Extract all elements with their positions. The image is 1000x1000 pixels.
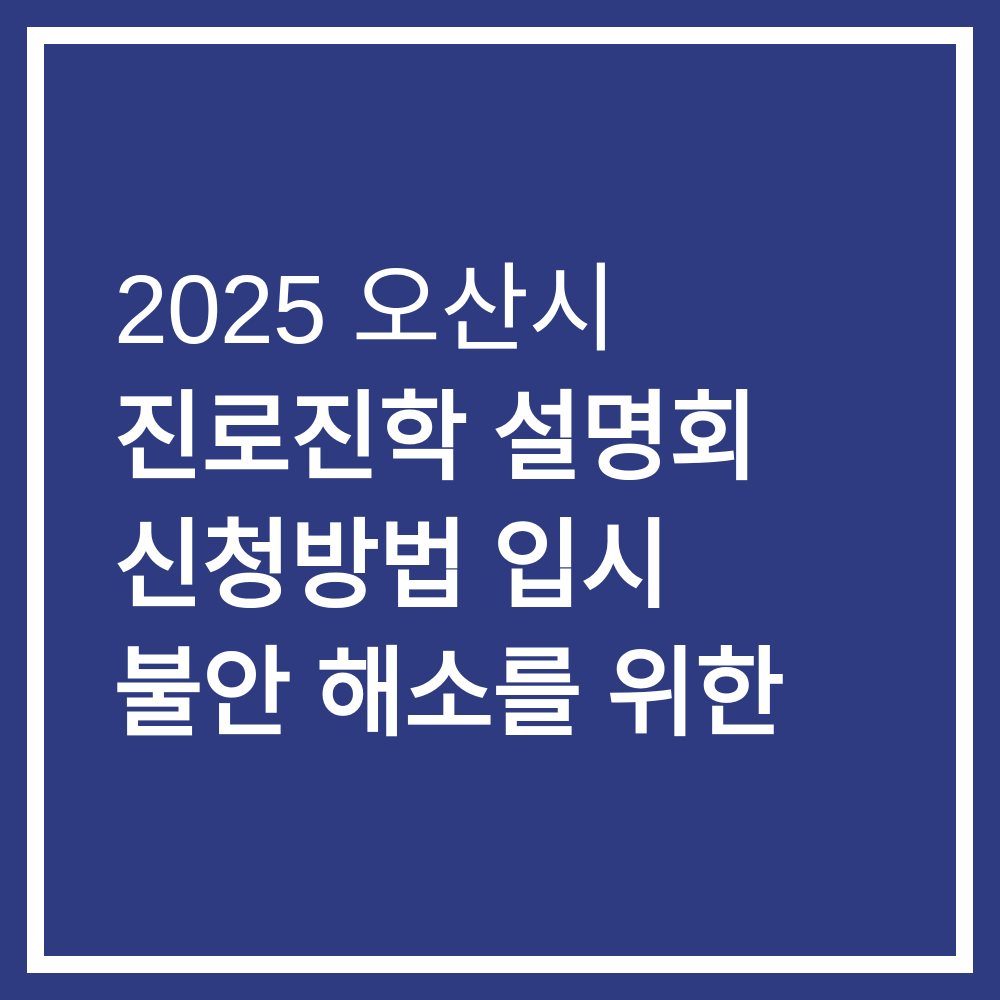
poster-title-block: 2025 오산시 진로진학 설명회 신청방법 입시 불안 해소를 위한	[114, 246, 914, 758]
title-line-3: 신청방법 입시	[114, 502, 914, 630]
title-line-4: 불안 해소를 위한	[114, 630, 914, 758]
title-line-1: 2025 오산시	[114, 246, 914, 374]
title-line-2: 진로진학 설명회	[114, 374, 914, 502]
poster-card: 2025 오산시 진로진학 설명회 신청방법 입시 불안 해소를 위한	[0, 0, 1000, 1000]
